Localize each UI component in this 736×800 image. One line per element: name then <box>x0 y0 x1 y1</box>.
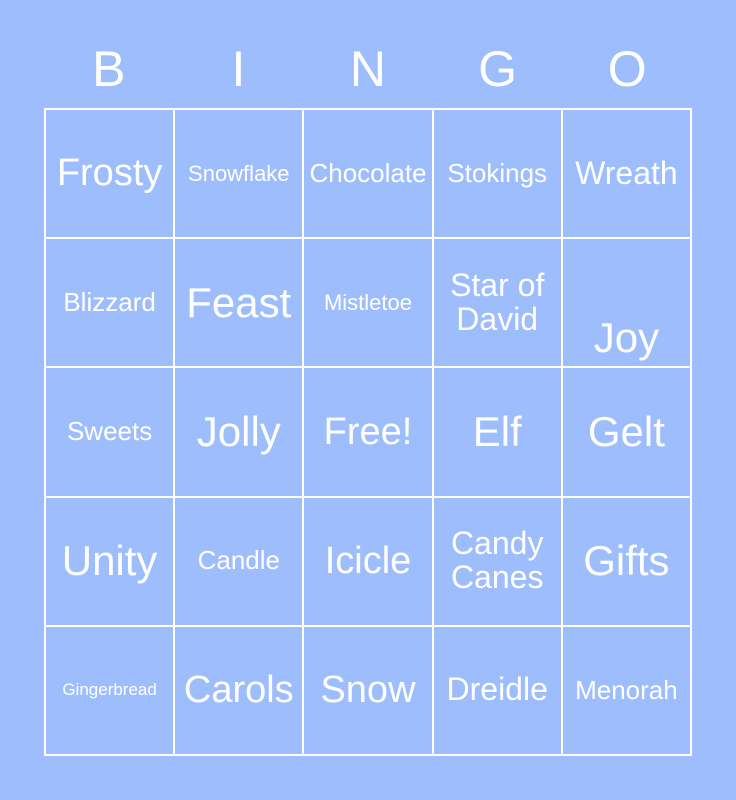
bingo-cell-r3c5[interactable]: Gelt <box>563 368 692 497</box>
bingo-card: B I N G O Frosty Snowflake Chocolate Sto… <box>0 0 736 800</box>
bingo-cell-label: Carols <box>179 670 298 710</box>
bingo-cell-label: Blizzard <box>50 289 169 317</box>
bingo-cell-r1c2[interactable]: Snowflake <box>175 110 304 239</box>
bingo-cell-label: Sweets <box>50 418 169 446</box>
bingo-cell-label: Gelt <box>567 410 686 455</box>
bingo-cell-r4c5[interactable]: Gifts <box>563 498 692 627</box>
bingo-cell-label: Snow <box>308 670 427 710</box>
bingo-cell-r2c2[interactable]: Feast <box>175 239 304 368</box>
bingo-cell-r5c4[interactable]: Dreidle <box>434 627 563 756</box>
bingo-cell-label: Unity <box>50 539 169 584</box>
bingo-cell-r2c1[interactable]: Blizzard <box>46 239 175 368</box>
bingo-cell-label: Chocolate <box>308 160 427 188</box>
bingo-cell-r4c1[interactable]: Unity <box>46 498 175 627</box>
bingo-cell-label: Feast <box>179 281 298 326</box>
bingo-cell-label: Jolly <box>179 410 298 455</box>
bingo-cell-r3c2[interactable]: Jolly <box>175 368 304 497</box>
bingo-cell-label: Dreidle <box>438 673 557 707</box>
bingo-cell-label: Icicle <box>308 541 427 581</box>
bingo-cell-r3c4[interactable]: Elf <box>434 368 563 497</box>
header-letter-n: N <box>303 36 433 102</box>
bingo-cell-r1c3[interactable]: Chocolate <box>304 110 433 239</box>
bingo-cell-r4c4[interactable]: Candy Canes <box>434 498 563 627</box>
bingo-cell-r5c1[interactable]: Gingerbread <box>46 627 175 756</box>
bingo-cell-label: Stokings <box>438 160 557 188</box>
bingo-cell-label: Free! <box>308 412 427 452</box>
bingo-cell-label: Gifts <box>567 539 686 584</box>
header-letter-g: G <box>433 36 563 102</box>
bingo-cell-r5c3[interactable]: Snow <box>304 627 433 756</box>
bingo-cell-r3c1[interactable]: Sweets <box>46 368 175 497</box>
bingo-cell-r5c5[interactable]: Menorah <box>563 627 692 756</box>
header-letter-b: B <box>44 36 174 102</box>
bingo-cell-r4c3[interactable]: Icicle <box>304 498 433 627</box>
bingo-cell-label: Star of David <box>438 269 557 337</box>
bingo-cell-label: Joy <box>567 316 686 361</box>
bingo-cell-r3c3-free[interactable]: Free! <box>304 368 433 497</box>
bingo-cell-r1c4[interactable]: Stokings <box>434 110 563 239</box>
bingo-cell-label: Gingerbread <box>50 681 169 699</box>
header-letter-i: I <box>174 36 304 102</box>
bingo-grid: Frosty Snowflake Chocolate Stokings Wrea… <box>44 108 692 756</box>
bingo-cell-label: Candle <box>179 547 298 575</box>
bingo-cell-r2c4[interactable]: Star of David <box>434 239 563 368</box>
bingo-cell-label: Frosty <box>50 153 169 193</box>
bingo-cell-r2c5[interactable]: Joy <box>563 239 692 368</box>
bingo-cell-r2c3[interactable]: Mistletoe <box>304 239 433 368</box>
bingo-cell-r1c1[interactable]: Frosty <box>46 110 175 239</box>
bingo-cell-label: Snowflake <box>179 162 298 185</box>
bingo-cell-r4c2[interactable]: Candle <box>175 498 304 627</box>
bingo-cell-r1c5[interactable]: Wreath <box>563 110 692 239</box>
bingo-cell-label: Elf <box>438 410 557 455</box>
bingo-cell-label: Menorah <box>567 677 686 705</box>
bingo-cell-label: Candy Canes <box>438 527 557 595</box>
bingo-header: B I N G O <box>44 36 692 102</box>
bingo-cell-r5c2[interactable]: Carols <box>175 627 304 756</box>
bingo-cell-label: Wreath <box>567 157 686 191</box>
bingo-cell-label: Mistletoe <box>308 291 427 314</box>
header-letter-o: O <box>562 36 692 102</box>
